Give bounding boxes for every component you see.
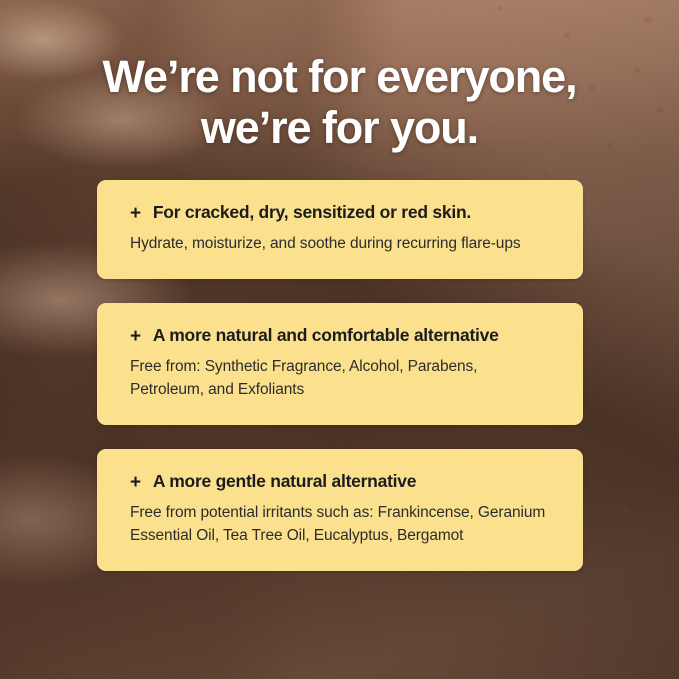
benefit-card-title-row: + A more gentle natural alternative (130, 471, 557, 493)
promo-panel: We’re not for everyone, we’re for you. +… (0, 0, 679, 679)
plus-icon: + (130, 204, 141, 223)
benefit-card[interactable]: + A more natural and comfortable alterna… (97, 303, 583, 425)
benefit-card-body: Hydrate, moisturize, and soothe during r… (130, 233, 550, 255)
benefit-card-title: For cracked, dry, sensitized or red skin… (153, 202, 471, 224)
benefit-card[interactable]: + For cracked, dry, sensitized or red sk… (97, 180, 583, 279)
benefit-card-body: Free from: Synthetic Fragrance, Alcohol,… (130, 356, 550, 401)
benefit-card-title-row: + For cracked, dry, sensitized or red sk… (130, 202, 557, 224)
panel-content: We’re not for everyone, we’re for you. +… (0, 0, 679, 679)
benefit-card-title: A more gentle natural alternative (153, 471, 416, 493)
plus-icon: + (130, 327, 141, 346)
plus-icon: + (130, 473, 141, 492)
headline-line-2: we’re for you. (40, 103, 639, 154)
benefit-card-title: A more natural and comfortable alternati… (153, 325, 499, 347)
benefit-card-list: + For cracked, dry, sensitized or red sk… (97, 180, 583, 571)
page-title: We’re not for everyone, we’re for you. (0, 52, 679, 154)
benefit-card[interactable]: + A more gentle natural alternative Free… (97, 449, 583, 571)
benefit-card-body: Free from potential irritants such as: F… (130, 502, 550, 547)
headline-line-1: We’re not for everyone, (40, 52, 639, 103)
benefit-card-title-row: + A more natural and comfortable alterna… (130, 325, 557, 347)
